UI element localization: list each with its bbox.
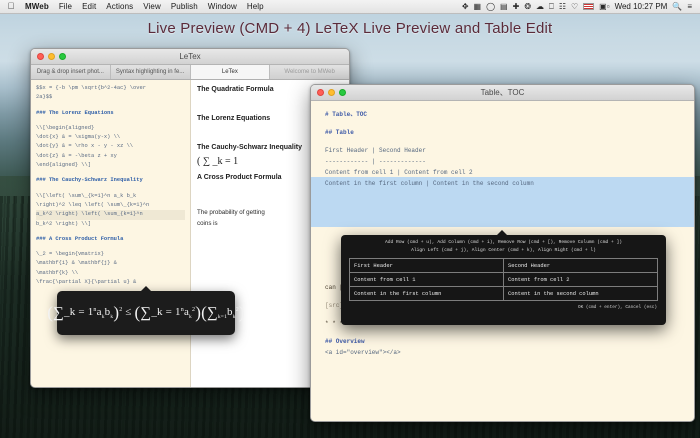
menu-item-mweb[interactable]: MWeb [20,2,54,11]
markdown-table-source-line: Content in the first column | Content in… [325,178,684,189]
display-icon[interactable]: ▤ [500,3,508,11]
bluetooth-icon[interactable]: ✥ [462,3,469,11]
markdown-table-source-line: ------------ | ------------- [325,156,684,167]
battery-icon[interactable]: ▣▫ [599,3,609,11]
table-toc-window[interactable]: Table、TOC # Table、TOC## TableFirst Heade… [310,84,695,422]
back-window-tabbar: Drag & drop insert phot... Syntax highli… [31,65,349,80]
tab-welcome-to-mweb[interactable]: Welcome to MWeb [270,65,349,79]
editor-line: \dot{z} & = -\beta z + xy [36,152,185,161]
editor-line: \\[\begin{aligned} [36,124,185,133]
editor-line: ### A Cross Product Formula [36,235,185,244]
airplay-icon[interactable]: ⎕ [549,3,554,11]
menu-item-file[interactable]: File [54,2,77,11]
circle-icon[interactable]: ◯ [486,3,495,11]
maximize-icon[interactable] [339,89,346,96]
page-title: Live Preview (CMD + 4) LeTeX Live Previe… [0,20,700,37]
editor-line: 2a}$$ [36,93,185,102]
menu-item-publish[interactable]: Publish [166,2,203,11]
markdown-table-source-line: Content from cell 1 | Content from cell … [325,167,684,178]
us-flag-icon[interactable] [583,3,594,10]
macos-menu-bar:  MWeb File Edit Actions View Publish Wi… [0,0,700,14]
markdown-blank-line [325,138,684,145]
markdown-line: <a id="overview"></a> [325,347,684,358]
editor-line: \mathbf{i} & \mathbf{j} & [36,259,185,268]
menu-bar-clock[interactable]: Wed 10:27 PM [615,2,668,11]
editor-line: a_k^2 \right) \left( \sum_{k=1}^n [36,210,185,219]
front-window-title: Table、TOC [311,87,694,98]
editor-line: \right)^2 \leq \left( \sum\_{k=1}^n [36,201,185,210]
minimize-icon[interactable] [48,53,55,60]
menu-item-window[interactable]: Window [203,2,242,11]
markdown-table-source-line: First Header | Second Header [325,145,684,156]
editor-line: \dot{x} & = \sigma(y-x) \\ [36,133,185,142]
dropbox-icon[interactable]: ❂ [524,3,531,11]
table-cell[interactable]: Content in the second column [504,287,657,300]
editor-line: \frac{\partial X}{\partial u} & [36,278,185,287]
table-edit-grid[interactable]: First HeaderSecond HeaderContent from ce… [349,258,658,301]
maximize-icon[interactable] [59,53,66,60]
list-icon[interactable]: ≡ [687,3,692,11]
desktop-screen:  MWeb File Edit Actions View Publish Wi… [0,0,700,438]
markdown-blank-line [325,329,684,336]
menu-item-actions[interactable]: Actions [101,2,138,11]
markdown-line: # Table、TOC [325,109,684,120]
shield-icon[interactable]: ♡ [571,3,578,11]
tab-letex[interactable]: LeTex [191,65,271,79]
editor-line: \_2 = \begin{vmatrix} [36,250,185,259]
table-cell[interactable]: Second Header [504,259,657,272]
menu-item-view[interactable]: View [138,2,166,11]
editor-line: \mathbf{k} \\ [36,269,185,278]
table-edit-popup[interactable]: Add Row (cmd + u), Add Column (cmd + i),… [341,235,666,325]
back-window-body: $$x = {-b \pm \sqrt{b^2-4ac} \over2a}$$#… [31,80,349,387]
cloud-icon[interactable]: ☁ [536,3,544,11]
menu-bar-status-area: ✥ ▦ ◯ ▤ ✚ ❂ ☁ ⎕ ☷ ♡ ▣▫ Wed 10:27 PM 🔍 ≡ [462,2,694,11]
front-window-editor[interactable]: # Table、TOC## TableFirst Header | Second… [311,101,694,421]
tab-syntax-highlighting[interactable]: Syntax highlighting in fe... [111,65,191,79]
table-cell[interactable]: Content from cell 1 [350,273,504,286]
table-popup-footer: OK (cmd + enter), Cancel (esc) [347,304,660,312]
markdown-editor-pane[interactable]: $$x = {-b \pm \sqrt{b^2-4ac} \over2a}$$#… [31,80,191,387]
table-popup-hint-line-1: Add Row (cmd + u), Add Column (cmd + i),… [347,239,660,247]
table-row[interactable]: First HeaderSecond Header [350,259,657,273]
back-window-traffic-lights [31,53,66,60]
search-icon[interactable]: 🔍 [672,3,682,11]
wifi-icon[interactable]: ☷ [559,3,566,11]
markdown-line: ## Overview [325,336,684,347]
editor-line: \\[\left( \sum\_{k=1}^n a_k b_k [36,192,185,201]
editor-line: b_k^2 \right) \\] [36,220,185,229]
editor-line: \dot{y} & = \rho x - y - xz \\ [36,142,185,151]
front-window-traffic-lights [311,89,346,96]
editor-line: ### The Lorenz Equations [36,109,185,118]
latex-rendered-formula: (∑_k = 1nakbk)2 ≤ (∑_k = 1nak2)(∑k=1bk2) [47,303,245,323]
markdown-blank-line [325,120,684,127]
table-cell[interactable]: Content in the first column [350,287,504,300]
editor-line: $$x = {-b \pm \sqrt{b^2-4ac} \over [36,84,185,93]
table-popup-hint-line-2: Align Left (cmd + j), Align Center (cmd … [347,247,660,255]
minimize-icon[interactable] [328,89,335,96]
close-icon[interactable] [37,53,44,60]
latex-live-preview-popup: (∑_k = 1nakbk)2 ≤ (∑_k = 1nak2)(∑k=1bk2) [57,291,235,335]
back-window-title: LeTex [31,52,349,61]
grid-icon[interactable]: ▦ [474,3,482,11]
close-icon[interactable] [317,89,324,96]
table-cell[interactable]: First Header [350,259,504,272]
table-row[interactable]: Content from cell 1Content from cell 2 [350,273,657,287]
editor-line: ### The Cauchy-Schwarz Inequality [36,176,185,185]
table-cell[interactable]: Content from cell 2 [504,273,657,286]
front-window-titlebar[interactable]: Table、TOC [311,85,694,101]
back-window-titlebar[interactable]: LeTex [31,49,349,65]
markdown-line: ## Table [325,127,684,138]
letex-window[interactable]: LeTex Drag & drop insert phot... Syntax … [30,48,350,388]
editor-line: \end{aligned} \\] [36,161,185,170]
apple-icon[interactable]:  [6,2,16,11]
table-row[interactable]: Content in the first columnContent in th… [350,287,657,300]
menu-item-help[interactable]: Help [242,2,269,11]
plus-icon[interactable]: ✚ [513,3,520,11]
menu-item-edit[interactable]: Edit [77,2,101,11]
tab-drag-drop-insert-photo[interactable]: Drag & drop insert phot... [31,65,111,79]
